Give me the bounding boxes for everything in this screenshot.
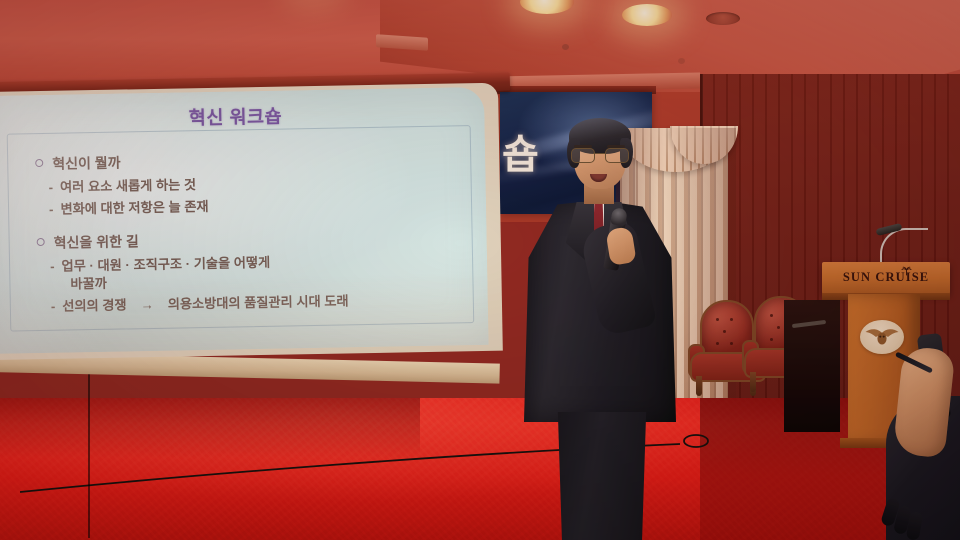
av-equipment [784,300,840,432]
slide-subitem-continuation: 바꿀까 [70,270,467,291]
slide-subitem-text: 변화에 대한 저항은 늘 존재 [60,199,208,216]
slide-subitem-text: 여러 요소 새롭게 하는 것 [60,178,196,194]
eyeglasses-icon [570,148,630,161]
slide-bullet-group: 혁신이 뭘까 - 여러 요소 새롭게 하는 것 - 변화에 대한 저항은 늘 존… [35,149,466,216]
slide-bullet-heading: 혁신을 위한 길 [37,229,467,252]
presenter-figure [512,112,702,540]
photo-scene: 숍 [0,0,960,540]
projector-screen: 혁신 워크숍 혁신이 뭘까 - 여러 요소 새롭게 하는 것 - 변화에 대한 … [0,87,489,354]
slide-subitem-text-2: 의용소방대의 품질관리 시대 도래 [168,294,349,311]
slide-subitem-text: 선의의 경쟁 [62,298,127,313]
slide-subitem-text: 업무 · 대원 · 조직구조 · 기술을 어떻게 [61,256,270,274]
slide-heading-text: 혁신이 뭘까 [52,156,121,172]
palm-tree-icon [901,265,912,276]
slide-subitem: - 변화에 대한 저항은 늘 존재 [49,195,466,216]
dash-icon: - [49,180,54,194]
dash-icon: - [51,300,56,314]
slide-bullet-group: 혁신을 위한 길 - 업무 · 대원 · 조직구조 · 기술을 어떻게 바꿀까 … [37,229,468,314]
ceiling-speaker-vent [706,12,740,25]
bullet-circle-icon [35,159,43,167]
slide-heading-text: 혁신을 위한 길 [54,235,139,251]
slide-subitem: - 선의의 경쟁 → 의용소방대의 품질관리 시대 도래 [51,292,468,313]
slide-body: 혁신이 뭘까 - 여러 요소 새롭게 하는 것 - 변화에 대한 저항은 늘 존… [35,149,468,334]
dash-icon: - [50,260,55,274]
downlight-icon [622,4,672,26]
bullet-circle-icon [37,238,45,246]
presenter-trousers [554,412,650,540]
armchair-leg [750,372,756,392]
sprinkler-head-icon [678,58,685,64]
dash-icon: - [49,202,54,216]
sprinkler-head-icon [562,44,569,50]
podium-header: SUN CRUISE [822,262,950,294]
podium-plaque-text: SUN CRUISE [822,270,950,285]
foreground-audience-member [876,330,960,540]
slide-subitem: - 여러 요소 새롭게 하는 것 [49,173,466,194]
arrow-icon: → [133,298,160,312]
